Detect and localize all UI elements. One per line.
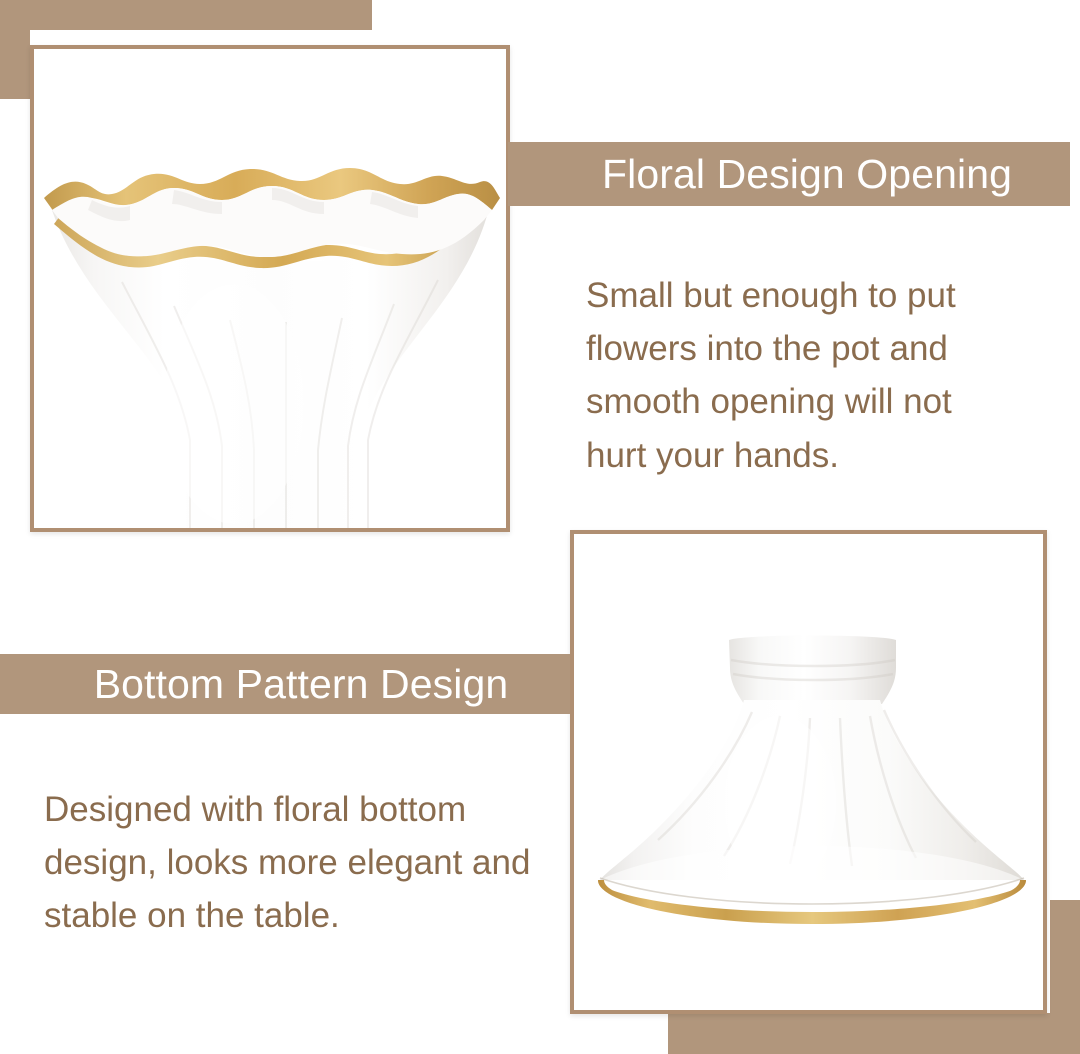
product-photo-frame-base	[570, 530, 1047, 1014]
feature-description-base: Designed with floral bottom design, look…	[44, 783, 534, 943]
infographic-canvas: Floral Design Opening Small but enough t…	[0, 0, 1080, 1054]
feature-title-bar-opening: Floral Design Opening	[508, 142, 1070, 206]
feature-title-base: Bottom Pattern Design	[94, 664, 509, 705]
decorative-block-top-left-horizontal	[0, 0, 372, 30]
product-photo-frame-opening	[30, 45, 510, 532]
decorative-block-bottom-right-vertical	[1050, 900, 1080, 1054]
vase-base-illustration	[584, 612, 1039, 942]
feature-description-opening: Small but enough to put flowers into the…	[586, 269, 1016, 482]
product-photo-opening	[34, 49, 506, 528]
feature-title-opening: Floral Design Opening	[602, 154, 1012, 195]
decorative-block-bottom-right-horizontal	[668, 1013, 1080, 1054]
decorative-block-top-left-vertical	[0, 0, 30, 99]
feature-title-bar-base: Bottom Pattern Design	[0, 654, 570, 714]
product-photo-base	[574, 534, 1043, 1010]
vase-opening-illustration	[34, 154, 506, 532]
